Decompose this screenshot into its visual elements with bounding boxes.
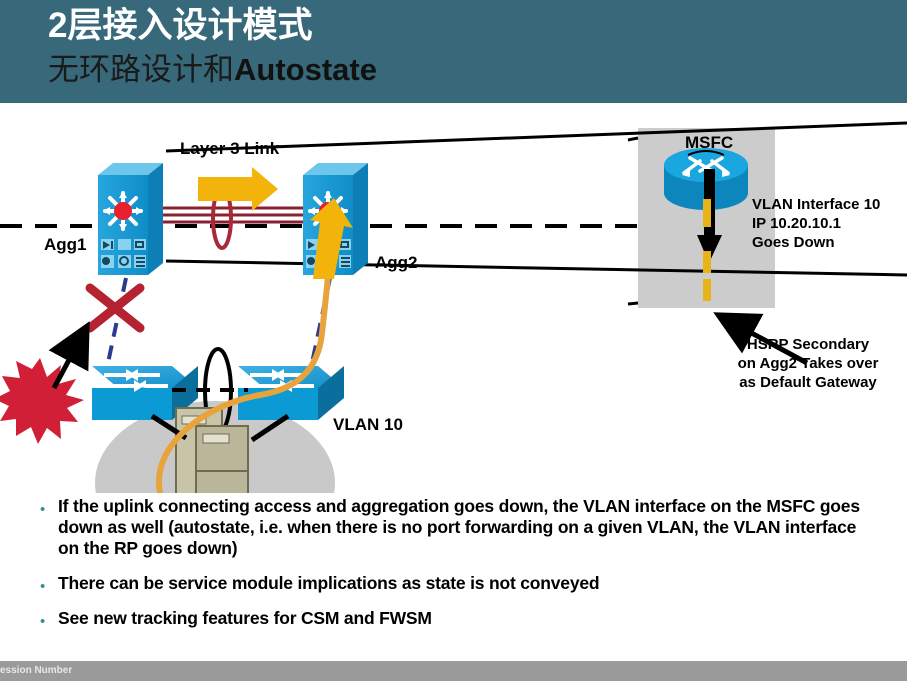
hsrp-line-3: as Default Gateway xyxy=(718,373,898,392)
hsrp-line-1: HSRP Secondary xyxy=(718,335,898,354)
slide-footer: ession Number xyxy=(0,661,907,681)
bullet-list: • If the uplink connecting access and ag… xyxy=(40,496,880,643)
bullet-text-1: If the uplink connecting access and aggr… xyxy=(58,496,880,559)
list-item: • If the uplink connecting access and ag… xyxy=(40,496,880,559)
label-vlan10: VLAN 10 xyxy=(333,415,403,434)
access-switch-right xyxy=(238,366,344,420)
list-item: • There can be service module implicatio… xyxy=(40,573,880,594)
diagram-svg xyxy=(0,103,907,493)
bullet-marker-icon: • xyxy=(40,579,58,594)
callout-leader-top-seg xyxy=(628,138,638,140)
hsrp-line-2: on Agg2 Takes over xyxy=(718,354,898,373)
callout-line-2: IP 10.20.10.1 xyxy=(752,214,880,233)
bullet-marker-icon: • xyxy=(40,614,58,629)
callout-leader-bottom xyxy=(166,261,907,275)
label-agg2: Agg2 xyxy=(375,253,418,272)
stp-uplink-agg1 xyxy=(108,278,126,363)
bullet-text-3: See new tracking features for CSM and FW… xyxy=(58,608,880,629)
slide-root: 2层接入设计模式 无环路设计和Autostate xyxy=(0,0,907,681)
hsrp-note-text: HSRP Secondary on Agg2 Takes over as Def… xyxy=(718,335,898,392)
link-failure-x xyxy=(90,288,140,328)
traffic-arrow-right xyxy=(198,167,278,211)
list-item: • See new tracking features for CSM and … xyxy=(40,608,880,629)
callout-leader-bottom-seg xyxy=(628,303,638,304)
bullet-marker-icon: • xyxy=(40,502,58,517)
label-msfc: MSFC xyxy=(685,133,733,152)
slide-header: 2层接入设计模式 无环路设计和Autostate xyxy=(0,0,907,103)
failure-pointer-arrow xyxy=(54,330,85,388)
page-subtitle: 无环路设计和Autostate xyxy=(48,50,377,90)
label-agg1: Agg1 xyxy=(44,235,87,254)
footer-session-number: ession Number xyxy=(0,665,72,676)
agg1-switch xyxy=(98,163,163,275)
callout-line-3: Goes Down xyxy=(752,233,880,252)
msfc-callout-text: VLAN Interface 10 IP 10.20.10.1 Goes Dow… xyxy=(752,195,880,252)
page-subtitle-en: Autostate xyxy=(234,52,377,87)
page-subtitle-cn: 无环路设计和 xyxy=(48,52,234,87)
page-title: 2层接入设计模式 xyxy=(48,5,312,47)
bullet-text-2: There can be service module implications… xyxy=(58,573,880,594)
label-layer3-link: Layer 3 Link xyxy=(180,139,279,158)
network-diagram: Layer 3 Link Agg1 Agg2 VLAN 10 MSFC VLAN… xyxy=(0,103,907,493)
failure-explosion-icon xyxy=(0,358,84,444)
callout-line-1: VLAN Interface 10 xyxy=(752,195,880,214)
